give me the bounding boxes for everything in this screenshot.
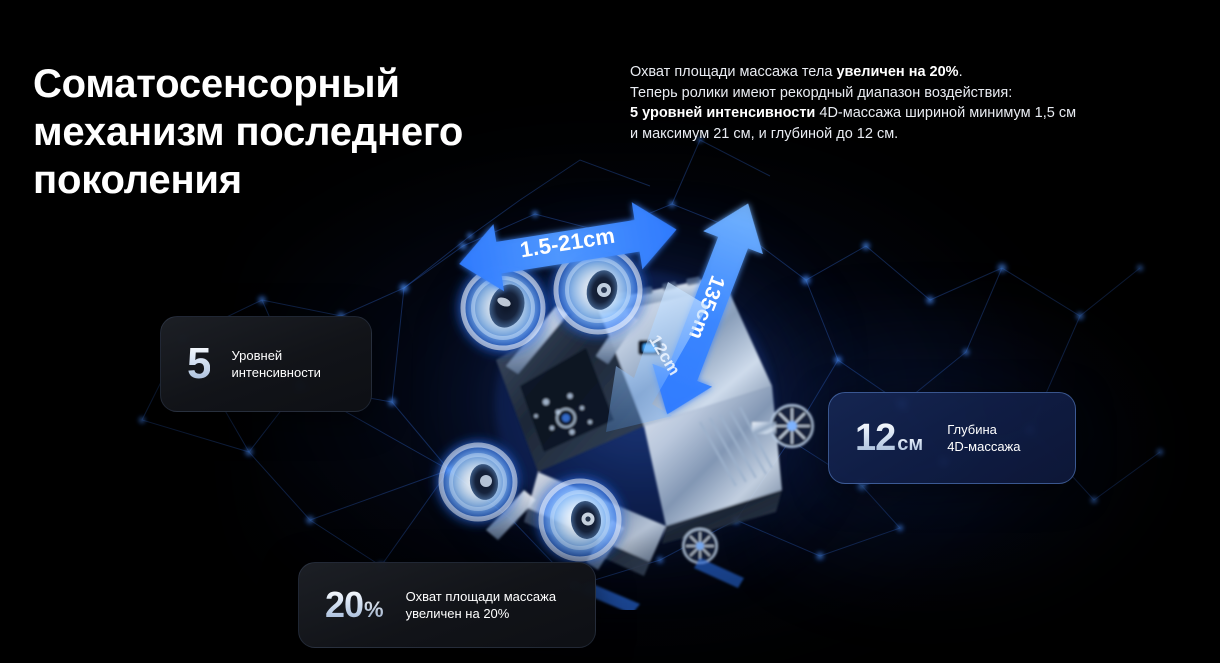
stat-number: 12 — [855, 419, 895, 457]
paragraph-line-1: Охват площади массажа тела увеличен на 2… — [630, 62, 1130, 83]
paragraph-emphasis: увеличен на 20% — [836, 64, 958, 80]
paragraph-emphasis: 5 уровней интенсивности — [630, 105, 815, 121]
stat-card-levels[interactable]: 5 Уровней интенсивности — [160, 316, 372, 412]
stat-unit: см — [897, 433, 923, 456]
stat-unit: % — [364, 597, 384, 623]
paragraph-text: и максимум 21 см, и глубиной до 12 см. — [630, 126, 898, 142]
paragraph-text: Теперь ролики имеют рекордный диапазон в… — [630, 85, 1012, 101]
paragraph-line-4: и максимум 21 см, и глубиной до 12 см. — [630, 124, 1130, 145]
stat-label: Уровней интенсивности — [231, 347, 320, 382]
paragraph-text: Охват площади массажа тела — [630, 64, 836, 80]
stat-card-coverage[interactable]: 20 % Охват площади массажа увеличен на 2… — [298, 562, 596, 648]
stat-label: Глубина 4D-массажа — [947, 421, 1020, 456]
paragraph-line-2: Теперь ролики имеют рекордный диапазон в… — [630, 83, 1130, 104]
stat-number: 5 — [187, 342, 210, 386]
hero-banner: 1.5-21cm 135cm 12cm Соматосенсорный меха… — [0, 0, 1220, 663]
stat-value-group: 20 % — [325, 587, 384, 623]
stat-card-depth[interactable]: 12 см Глубина 4D-массажа — [828, 392, 1076, 484]
stat-value-group: 5 — [187, 342, 210, 386]
page-title: Соматосенсорный механизм последнего поко… — [33, 60, 553, 204]
stat-value-group: 12 см — [855, 419, 923, 457]
stat-number: 20 — [325, 587, 363, 623]
stat-label: Охват площади массажа увеличен на 20% — [406, 588, 556, 623]
intro-paragraph: Охват площади массажа тела увеличен на 2… — [630, 62, 1130, 144]
paragraph-line-3: 5 уровней интенсивности 4D-массажа ширин… — [630, 103, 1130, 124]
paragraph-text: 4D-массажа шириной минимум 1,5 см — [815, 105, 1076, 121]
paragraph-text: . — [959, 64, 963, 80]
